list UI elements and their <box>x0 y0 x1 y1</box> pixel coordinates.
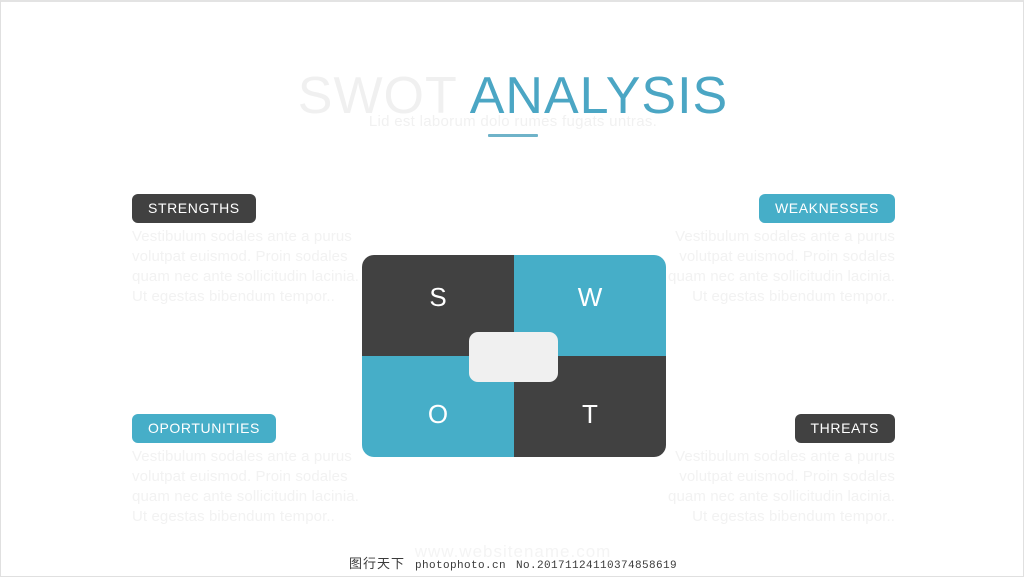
matrix-letter-o: O <box>428 399 448 430</box>
matrix-center-plate <box>469 332 558 382</box>
quadrant-threats: THREATS Vestibulum sodales ante a purus … <box>663 414 895 527</box>
footer-site-domain: photophoto.cn <box>415 560 506 572</box>
quadrant-weaknesses: WEAKNESSES Vestibulum sodales ante a pur… <box>663 194 895 307</box>
badge-weaknesses[interactable]: WEAKNESSES <box>759 194 895 223</box>
quadrant-threats-body: Vestibulum sodales ante a purus volutpat… <box>663 447 895 527</box>
footer-site-name-cn: 图行天下 <box>349 557 405 572</box>
swot-slide-canvas: SWOTANALYSIS Lid est laborum dolo rumes … <box>0 0 1024 577</box>
quadrant-strengths-body: Vestibulum sodales ante a purus volutpat… <box>132 227 364 307</box>
quadrant-weaknesses-body: Vestibulum sodales ante a purus volutpat… <box>663 227 895 307</box>
matrix-letter-t: T <box>582 399 598 430</box>
quadrant-oportunities: OPORTUNITIES Vestibulum sodales ante a p… <box>132 414 364 527</box>
title-underline-rule <box>488 134 538 137</box>
footer-image-id: No.20171124110374858619 <box>516 560 677 572</box>
badge-oportunities[interactable]: OPORTUNITIES <box>132 414 276 443</box>
matrix-letter-s: S <box>429 282 446 313</box>
badge-threats[interactable]: THREATS <box>795 414 896 443</box>
quadrant-strengths: STRENGTHS Vestibulum sodales ante a puru… <box>132 194 364 307</box>
quadrant-oportunities-body: Vestibulum sodales ante a purus volutpat… <box>132 447 364 527</box>
footer-credit-bar: 图行天下photophoto.cnNo.20171124110374858619 <box>1 553 1024 572</box>
page-subtitle: Lid est laborum dolo rumes fugats untras… <box>1 113 1024 130</box>
badge-strengths[interactable]: STRENGTHS <box>132 194 256 223</box>
matrix-letter-w: W <box>578 282 603 313</box>
